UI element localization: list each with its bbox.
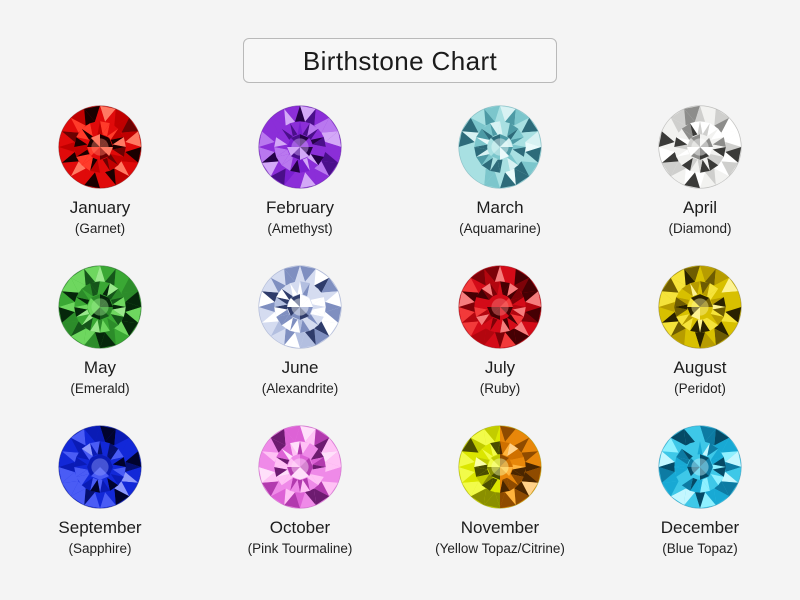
month-label: August	[674, 359, 727, 376]
birthstone-labels: February(Amethyst)	[266, 199, 334, 236]
stone-label: (Garnet)	[70, 222, 130, 236]
gem-february	[257, 104, 343, 190]
birthstone-labels: August(Peridot)	[674, 359, 727, 396]
gem-june	[257, 264, 343, 350]
birthstone-labels: July(Ruby)	[480, 359, 521, 396]
gem-april	[657, 104, 743, 190]
month-label: May	[70, 359, 129, 376]
birthstone-labels: January(Garnet)	[70, 199, 130, 236]
month-label: April	[668, 199, 731, 216]
page-title: Birthstone Chart	[303, 48, 497, 74]
birthstone-labels: December(Blue Topaz)	[661, 519, 739, 556]
gem-november	[457, 424, 543, 510]
stone-label: (Pink Tourmaline)	[248, 542, 353, 556]
month-label: October	[248, 519, 353, 536]
month-label: June	[262, 359, 339, 376]
month-label: December	[661, 519, 739, 536]
birthstone-cell: August(Peridot)	[600, 264, 800, 424]
birthstone-cell: April(Diamond)	[600, 104, 800, 264]
month-label: September	[58, 519, 141, 536]
birthstone-labels: October(Pink Tourmaline)	[248, 519, 353, 556]
chart-title-box: Birthstone Chart	[243, 38, 557, 83]
birthstone-labels: March(Aquamarine)	[459, 199, 541, 236]
birthstone-labels: September(Sapphire)	[58, 519, 141, 556]
birthstone-chart: Birthstone Chart January(Garnet)February…	[0, 0, 800, 600]
month-label: November	[435, 519, 565, 536]
month-label: March	[459, 199, 541, 216]
stone-label: (Blue Topaz)	[661, 542, 739, 556]
birthstone-cell: May(Emerald)	[0, 264, 200, 424]
birthstone-cell: December(Blue Topaz)	[600, 424, 800, 584]
birthstone-grid: January(Garnet)February(Amethyst)March(A…	[0, 104, 800, 584]
stone-label: (Sapphire)	[58, 542, 141, 556]
birthstone-cell: October(Pink Tourmaline)	[200, 424, 400, 584]
stone-label: (Emerald)	[70, 382, 129, 396]
month-label: January	[70, 199, 130, 216]
birthstone-cell: February(Amethyst)	[200, 104, 400, 264]
stone-label: (Aquamarine)	[459, 222, 541, 236]
stone-label: (Peridot)	[674, 382, 727, 396]
birthstone-cell: January(Garnet)	[0, 104, 200, 264]
gem-december	[657, 424, 743, 510]
gem-september	[57, 424, 143, 510]
gem-october	[257, 424, 343, 510]
birthstone-labels: June(Alexandrite)	[262, 359, 339, 396]
gem-march	[457, 104, 543, 190]
birthstone-cell: September(Sapphire)	[0, 424, 200, 584]
birthstone-cell: November(Yellow Topaz/Citrine)	[400, 424, 600, 584]
birthstone-labels: April(Diamond)	[668, 199, 731, 236]
birthstone-cell: June(Alexandrite)	[200, 264, 400, 424]
stone-label: (Diamond)	[668, 222, 731, 236]
birthstone-cell: July(Ruby)	[400, 264, 600, 424]
stone-label: (Alexandrite)	[262, 382, 339, 396]
birthstone-labels: May(Emerald)	[70, 359, 129, 396]
month-label: February	[266, 199, 334, 216]
stone-label: (Yellow Topaz/Citrine)	[435, 542, 565, 556]
stone-label: (Amethyst)	[266, 222, 334, 236]
birthstone-labels: November(Yellow Topaz/Citrine)	[435, 519, 565, 556]
gem-july	[457, 264, 543, 350]
gem-january	[57, 104, 143, 190]
gem-may	[57, 264, 143, 350]
month-label: July	[480, 359, 521, 376]
stone-label: (Ruby)	[480, 382, 521, 396]
birthstone-cell: March(Aquamarine)	[400, 104, 600, 264]
gem-august	[657, 264, 743, 350]
